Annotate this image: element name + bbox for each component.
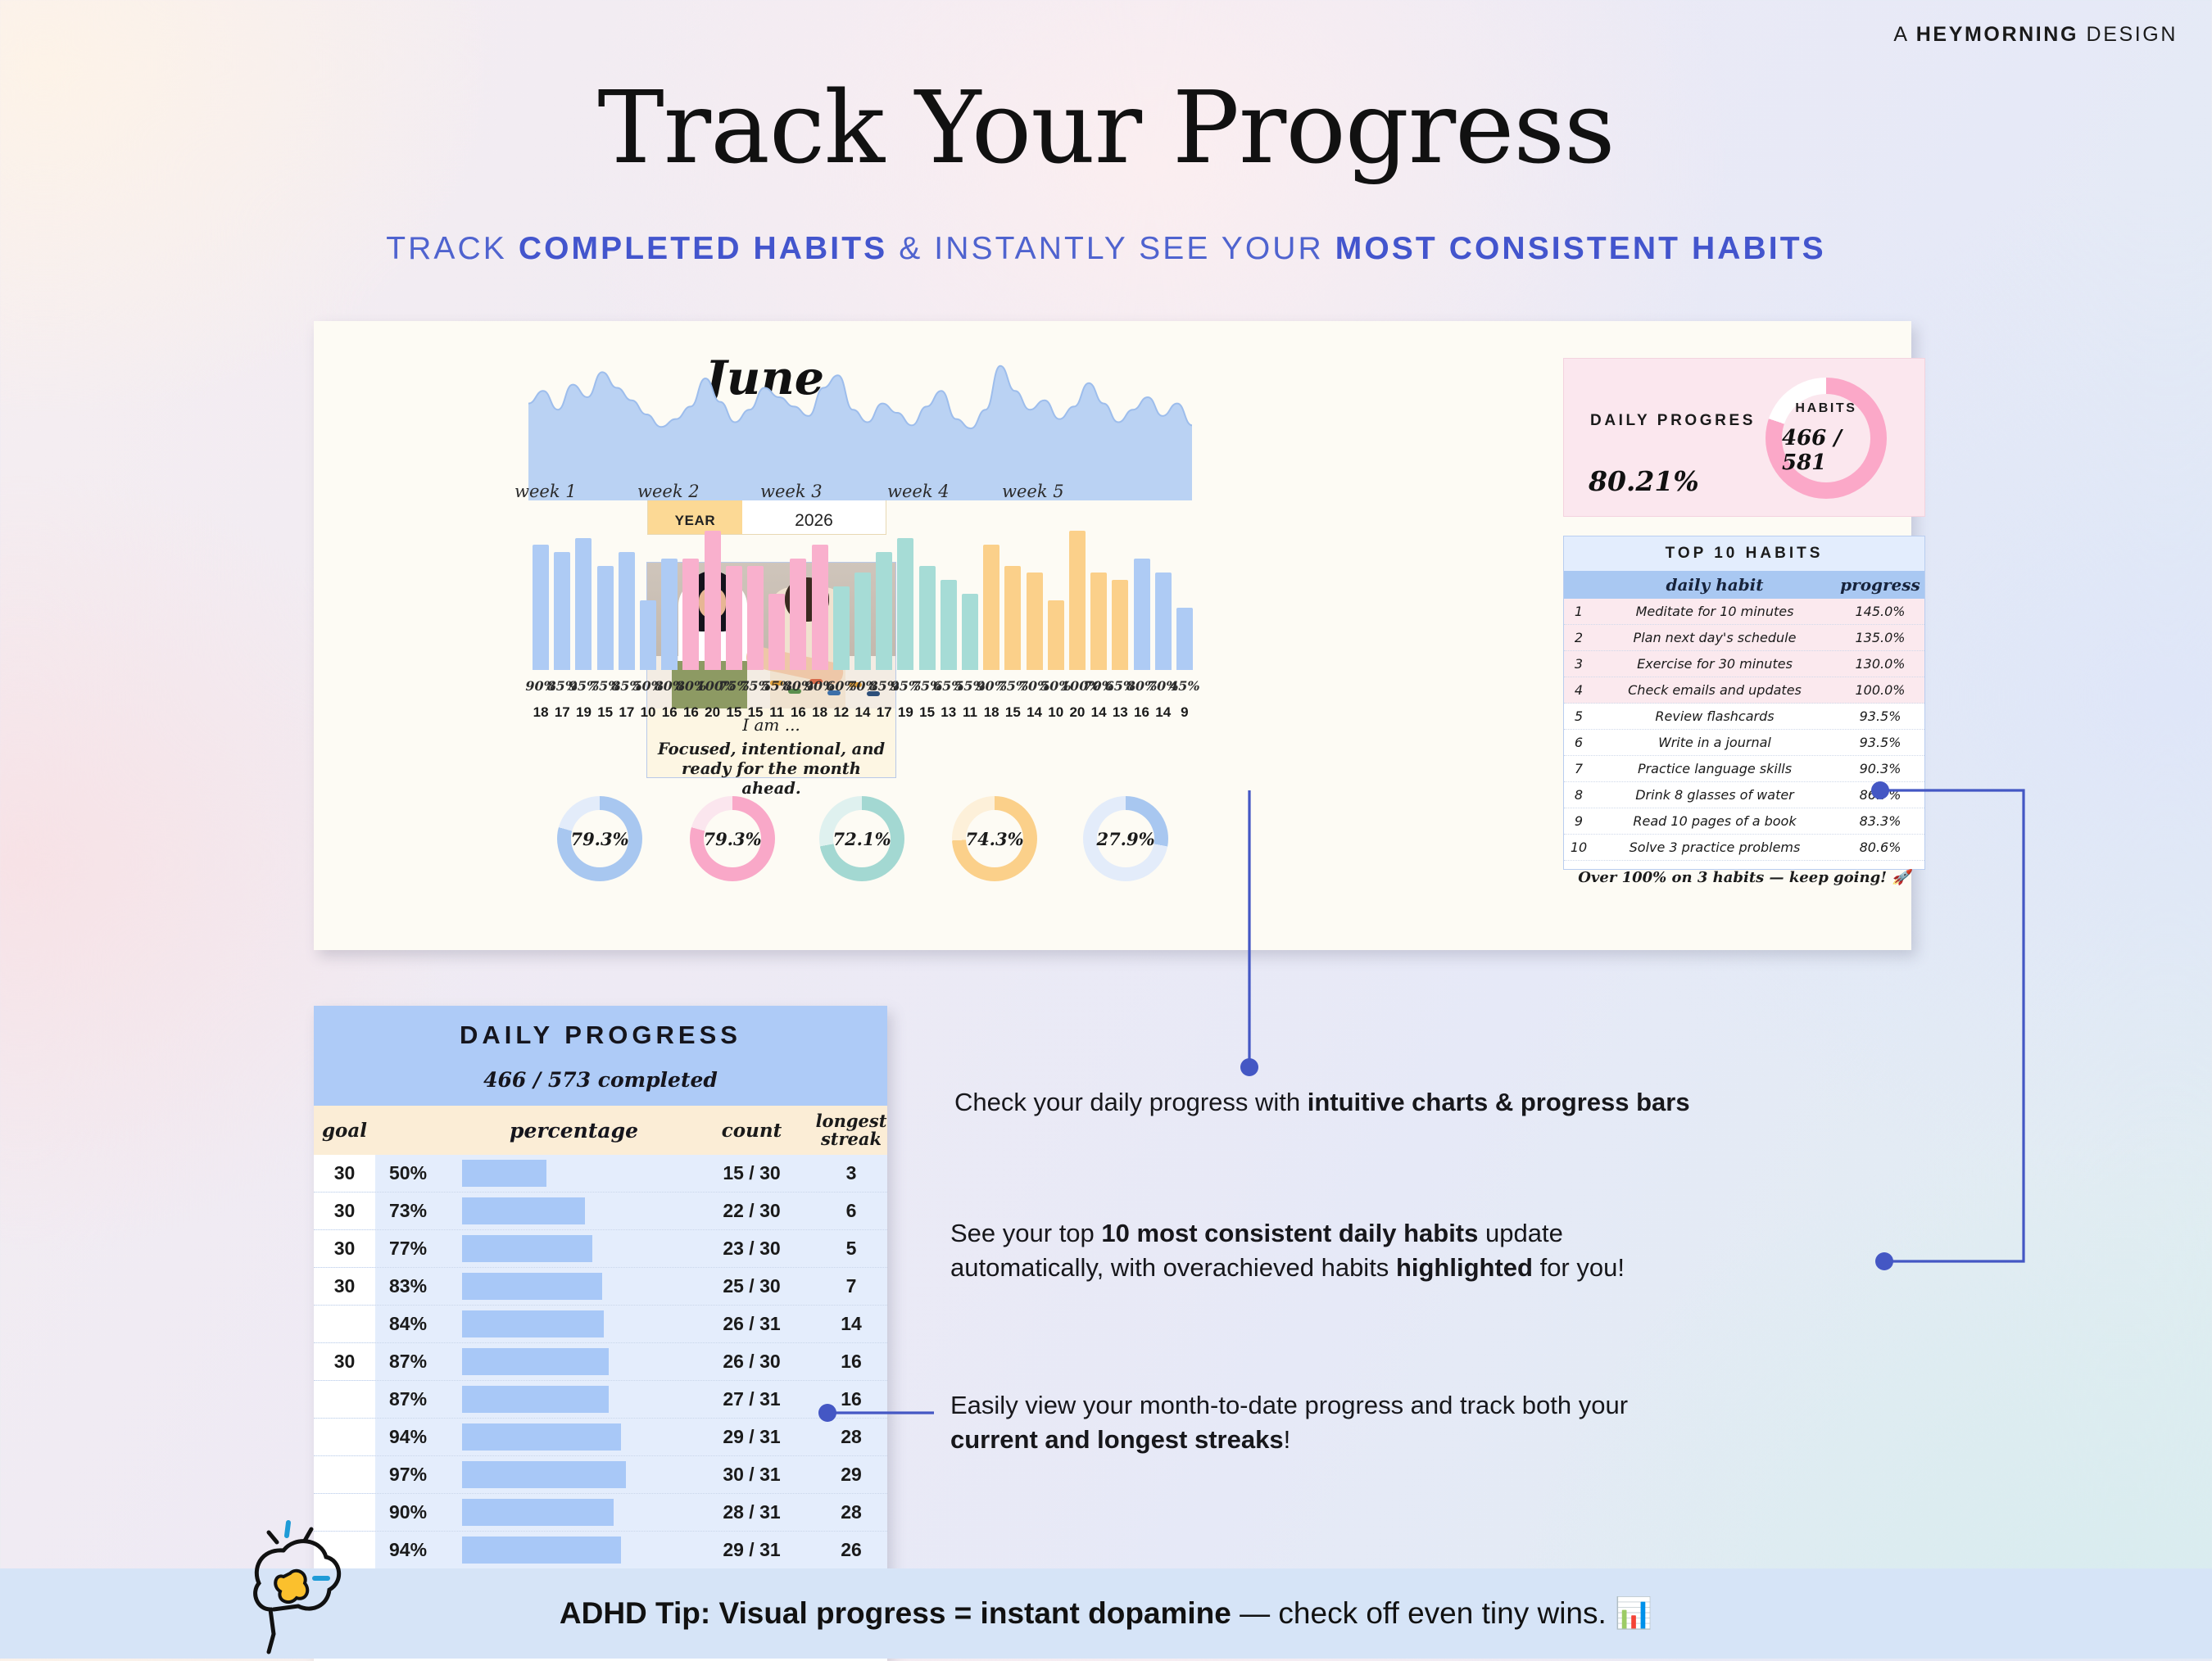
- row-goal: 30: [314, 1343, 375, 1380]
- bar-item: [1134, 559, 1150, 670]
- row-count: 28 / 31: [688, 1501, 815, 1523]
- table-row[interactable]: 7Practice language skills90.3%: [1564, 756, 1924, 782]
- row-longest-streak: 6: [815, 1200, 887, 1222]
- habit-rank: 2: [1564, 630, 1593, 645]
- row-progress-bar: [460, 1343, 688, 1380]
- footer-tip-text: ADHD Tip: Visual progress = instant dopa…: [560, 1596, 1652, 1632]
- row-count: 25 / 30: [688, 1275, 815, 1297]
- habit-name: Solve 3 practice problems: [1593, 840, 1836, 855]
- daily-completion-bar-chart: [530, 509, 1194, 670]
- bar-item: [812, 545, 828, 670]
- week-donut-value: 74.3%: [965, 829, 1023, 849]
- habit-progress: 93.5%: [1836, 735, 1924, 750]
- habits-donut-chart: HABITS 466 / 581: [1766, 378, 1887, 499]
- row-progress-bar: [460, 1494, 688, 1531]
- bar-item: [1027, 573, 1043, 670]
- week-donut-value: 79.3%: [703, 829, 761, 849]
- row-goal: [314, 1381, 375, 1418]
- week-donut-value: 27.9%: [1096, 829, 1154, 849]
- brand-name: HEYMORNING: [1916, 23, 2078, 46]
- row-longest-streak: 28: [815, 1501, 887, 1523]
- habit-rank: 9: [1564, 813, 1593, 829]
- brand-credit: A HEYMORNING DESIGN: [1893, 23, 2178, 47]
- habit-rank: 10: [1564, 840, 1593, 855]
- week-label: week 4: [887, 482, 950, 501]
- col-goal: goal: [314, 1106, 375, 1155]
- table-row[interactable]: 94%29 / 3128: [314, 1419, 887, 1456]
- row-count: 27 / 31: [688, 1388, 815, 1410]
- annotation-charts: Check your daily progress with intuitive…: [954, 1085, 2019, 1120]
- bar-item: [705, 531, 721, 670]
- bar-item: [1004, 566, 1021, 671]
- table-row[interactable]: 9Read 10 pages of a book83.3%: [1564, 808, 1924, 835]
- habit-name: Read 10 pages of a book: [1593, 813, 1836, 829]
- bar-item: [1048, 600, 1064, 670]
- table-row[interactable]: 10Solve 3 practice problems80.6%: [1564, 835, 1924, 861]
- habits-donut-value: 466 / 581: [1782, 426, 1870, 475]
- subtitle-part-4: MOST CONSISTENT HABITS: [1335, 231, 1826, 266]
- row-longest-streak: 28: [815, 1426, 887, 1448]
- affirmation-text: Focused, intentional, and ready for the …: [654, 740, 889, 798]
- table-row[interactable]: 3050%15 / 303: [314, 1155, 887, 1193]
- row-count: 23 / 30: [688, 1238, 815, 1260]
- bar-item: [768, 594, 785, 671]
- row-percentage: 97%: [375, 1464, 460, 1486]
- annotation-3-plain-1: Easily view your month-to-date progress …: [950, 1391, 1628, 1419]
- subtitle-part-1: TRACK: [386, 231, 519, 266]
- habit-name: Practice language skills: [1593, 761, 1836, 776]
- row-goal: [314, 1306, 375, 1342]
- table-row[interactable]: 94%29 / 3126: [314, 1532, 887, 1569]
- row-longest-streak: 14: [815, 1313, 887, 1335]
- week-donut: 74.3%: [952, 796, 1037, 881]
- habit-progress: 86.7%: [1836, 787, 1924, 803]
- row-goal: 30: [314, 1230, 375, 1267]
- table-row[interactable]: 3073%22 / 306: [314, 1193, 887, 1230]
- habit-progress: 130.0%: [1836, 656, 1924, 672]
- bar-item: [682, 559, 699, 670]
- habit-name: Review flashcards: [1593, 708, 1836, 724]
- row-progress-bar: [460, 1381, 688, 1418]
- bar-item: [597, 566, 614, 671]
- row-goal: 30: [314, 1268, 375, 1305]
- row-longest-streak: 7: [815, 1275, 887, 1297]
- table-row[interactable]: 84%26 / 3114: [314, 1306, 887, 1343]
- daily-progress-header: DAILY PROGRESS 466 / 573 completed: [314, 1006, 887, 1106]
- row-longest-streak: 26: [815, 1539, 887, 1561]
- bar-item: [554, 552, 570, 671]
- habit-progress: 80.6%: [1836, 840, 1924, 855]
- monthly-trend-area-chart: [528, 333, 1192, 500]
- daily-progress-stat-card: DAILY PROGRES 80.21% HABITS 466 / 581: [1563, 358, 1925, 517]
- week-donut: 79.3%: [557, 796, 642, 881]
- row-longest-streak: 3: [815, 1162, 887, 1184]
- annotation-1-bold-1: intuitive charts & progress bars: [1308, 1088, 1690, 1116]
- row-progress-bar: [460, 1419, 688, 1455]
- row-percentage: 94%: [375, 1426, 460, 1448]
- row-percentage: 73%: [375, 1200, 460, 1222]
- col-percentage: percentage: [460, 1106, 688, 1155]
- bar-count-label: 9: [1168, 704, 1201, 721]
- col-longest-streak: longeststreak: [815, 1112, 887, 1148]
- bar-item: [833, 586, 850, 670]
- bar-item: [919, 566, 936, 671]
- brand-prefix: A: [1893, 23, 1915, 46]
- habit-name: Check emails and updates: [1593, 682, 1836, 698]
- bar-count-row: 1817191517101616201515111618121417191513…: [530, 704, 1195, 726]
- top-10-header-row: daily habit progress: [1564, 571, 1924, 599]
- table-row[interactable]: 6Write in a journal93.5%: [1564, 730, 1924, 756]
- daily-progress-title: DAILY PROGRESS: [460, 1021, 741, 1050]
- habit-name: Plan next day's schedule: [1593, 630, 1836, 645]
- row-goal: [314, 1419, 375, 1455]
- daily-progress-label: DAILY PROGRES: [1590, 410, 1756, 433]
- bar-item: [640, 600, 656, 670]
- bar-percent-row: 90%85%95%75%85%50%80%80%100%75%75%55%80%…: [530, 678, 1195, 699]
- page-title: Track Your Progress: [0, 78, 2212, 178]
- table-row[interactable]: 8Drink 8 glasses of water86.7%: [1564, 782, 1924, 808]
- row-progress-bar: [460, 1456, 688, 1493]
- annotation-1-plain-1: Check your daily progress with: [954, 1088, 1308, 1116]
- subtitle-part-2: COMPLETED HABITS: [519, 231, 887, 266]
- bar-item: [575, 538, 592, 671]
- row-percentage: 87%: [375, 1388, 460, 1410]
- row-percentage: 77%: [375, 1238, 460, 1260]
- habit-rank: 3: [1564, 656, 1593, 672]
- bar-item: [962, 594, 978, 671]
- bar-item: [854, 573, 871, 670]
- row-progress-bar: [460, 1230, 688, 1267]
- row-count: 15 / 30: [688, 1162, 815, 1184]
- row-percentage: 87%: [375, 1351, 460, 1373]
- row-progress-bar: [460, 1532, 688, 1568]
- bar-item: [1069, 531, 1086, 670]
- row-percentage: 84%: [375, 1313, 460, 1335]
- week-donut: 72.1%: [819, 796, 904, 881]
- page-subtitle: TRACK COMPLETED HABITS & INSTANTLY SEE Y…: [0, 231, 2212, 267]
- annotation-2-bold-1: 10 most consistent daily habits: [1101, 1219, 1478, 1247]
- row-longest-streak: 29: [815, 1464, 887, 1486]
- habit-tracker-sheet[interactable]: June HABIT TRACKER MONTH June YEAR 2026: [314, 321, 1911, 950]
- col-progress: progress: [1836, 575, 1924, 595]
- row-longest-streak: 16: [815, 1388, 887, 1410]
- habit-progress: 145.0%: [1836, 604, 1924, 619]
- row-percentage: 94%: [375, 1539, 460, 1561]
- row-count: 22 / 30: [688, 1200, 815, 1222]
- annotation-2-plain-1: See your top: [950, 1219, 1101, 1247]
- row-count: 26 / 31: [688, 1313, 815, 1335]
- row-count: 29 / 31: [688, 1539, 815, 1561]
- week-donut-value: 79.3%: [570, 829, 628, 849]
- table-row[interactable]: 3077%23 / 305: [314, 1230, 887, 1268]
- footer-tip-rest: — check off even tiny wins. 📊: [1231, 1596, 1652, 1630]
- week-label: week 1: [514, 482, 577, 501]
- row-longest-streak: 16: [815, 1351, 887, 1373]
- bar-item: [1176, 608, 1193, 671]
- table-row[interactable]: 3083%25 / 307: [314, 1268, 887, 1306]
- bar-item: [1155, 573, 1172, 670]
- bar-item: [533, 545, 549, 670]
- annotation-2-line2-plain-1: automatically, with overachieved habits: [950, 1253, 1396, 1282]
- annotation-top10: See your top 10 most consistent daily ha…: [950, 1216, 1876, 1284]
- habit-rank: 4: [1564, 682, 1593, 698]
- brain-icon: [236, 1511, 367, 1659]
- week-donut-value: 72.1%: [832, 829, 891, 849]
- bar-item: [726, 566, 742, 671]
- bar-item: [1112, 580, 1128, 671]
- col-count: count: [688, 1120, 815, 1142]
- row-goal: [314, 1456, 375, 1493]
- week-donut: 79.3%: [690, 796, 775, 881]
- habit-name: Write in a journal: [1593, 735, 1836, 750]
- table-row[interactable]: 4Check emails and updates100.0%: [1564, 677, 1924, 704]
- row-percentage: 90%: [375, 1501, 460, 1523]
- bar-item: [1090, 573, 1107, 670]
- week-label: week 2: [637, 482, 700, 501]
- habit-rank: 8: [1564, 787, 1593, 803]
- top-10-habits-table[interactable]: TOP 10 HABITS daily habit progress 1Medi…: [1563, 536, 1925, 870]
- habit-progress: 90.3%: [1836, 761, 1924, 776]
- bar-percent-label: 45%: [1168, 678, 1201, 694]
- row-longest-streak: 5: [815, 1238, 887, 1260]
- annotation-streaks: Easily view your month-to-date progress …: [950, 1388, 1917, 1456]
- row-progress-bar: [460, 1155, 688, 1192]
- row-progress-bar: [460, 1306, 688, 1342]
- row-progress-bar: [460, 1193, 688, 1229]
- col-daily-habit: daily habit: [1593, 575, 1836, 595]
- brand-suffix: DESIGN: [2078, 23, 2178, 46]
- table-row[interactable]: 1Meditate for 10 minutes145.0%: [1564, 599, 1924, 625]
- table-row[interactable]: 3Exercise for 30 minutes130.0%: [1564, 651, 1924, 677]
- habit-name: Exercise for 30 minutes: [1593, 656, 1836, 672]
- table-row[interactable]: 97%30 / 3129: [314, 1456, 887, 1494]
- row-count: 26 / 30: [688, 1351, 815, 1373]
- daily-progress-column-header: goal percentage count longeststreak: [314, 1106, 887, 1155]
- daily-progress-card[interactable]: DAILY PROGRESS 466 / 573 completed goal …: [314, 1006, 887, 1661]
- row-percentage: 83%: [375, 1275, 460, 1297]
- weekly-donut-row: 79.3%79.3%72.1%74.3%27.9%: [530, 796, 1195, 886]
- habit-rank: 6: [1564, 735, 1593, 750]
- habit-progress: 83.3%: [1836, 813, 1924, 829]
- table-row[interactable]: 2Plan next day's schedule135.0%: [1564, 625, 1924, 651]
- bar-item: [941, 580, 957, 671]
- bar-item: [876, 552, 892, 671]
- top-10-footer-note: Over 100% on 3 habits — keep going! 🚀: [1564, 861, 1924, 894]
- annotation-2-plain-2: update: [1478, 1219, 1562, 1247]
- bar-item: [983, 545, 999, 670]
- habit-rank: 7: [1564, 761, 1593, 776]
- week-donut: 27.9%: [1083, 796, 1168, 881]
- row-goal: 30: [314, 1155, 375, 1192]
- top-10-title: TOP 10 HABITS: [1564, 536, 1924, 571]
- annotation-2-line2-bold: highlighted: [1396, 1253, 1533, 1282]
- table-row[interactable]: 90%28 / 3128: [314, 1494, 887, 1532]
- row-progress-bar: [460, 1268, 688, 1305]
- habit-progress: 93.5%: [1836, 708, 1924, 724]
- row-count: 30 / 31: [688, 1464, 815, 1486]
- bar-item: [790, 559, 806, 670]
- annotation-3-line2-plain-2: !: [1284, 1425, 1291, 1454]
- table-row[interactable]: 3087%26 / 3016: [314, 1343, 887, 1381]
- habits-donut-label: HABITS: [1795, 401, 1856, 416]
- row-percentage: 50%: [375, 1162, 460, 1184]
- row-count: 29 / 31: [688, 1426, 815, 1448]
- bar-item: [619, 552, 635, 671]
- bar-item: [747, 566, 764, 671]
- week-label: week 5: [1002, 482, 1064, 501]
- habit-name: Drink 8 glasses of water: [1593, 787, 1836, 803]
- habit-rank: 1: [1564, 604, 1593, 619]
- habit-name: Meditate for 10 minutes: [1593, 604, 1836, 619]
- subtitle-part-3: & INSTANTLY SEE YOUR: [887, 231, 1335, 266]
- habit-progress: 100.0%: [1836, 682, 1924, 698]
- daily-progress-completed: 466 / 573 completed: [483, 1068, 718, 1092]
- habit-progress: 135.0%: [1836, 630, 1924, 645]
- row-goal: 30: [314, 1193, 375, 1229]
- annotation-3-line2-bold: current and longest streaks: [950, 1425, 1284, 1454]
- table-row[interactable]: 87%27 / 3116: [314, 1381, 887, 1419]
- table-row[interactable]: 5Review flashcards93.5%: [1564, 704, 1924, 730]
- annotation-2-line2-plain-2: for you!: [1533, 1253, 1625, 1282]
- daily-progress-value: 80.21%: [1589, 465, 1699, 497]
- footer-tip-bold: ADHD Tip: Visual progress = instant dopa…: [560, 1596, 1231, 1630]
- bar-item: [661, 559, 678, 670]
- habit-rank: 5: [1564, 708, 1593, 724]
- week-label: week 3: [760, 482, 823, 501]
- bar-item: [897, 538, 913, 671]
